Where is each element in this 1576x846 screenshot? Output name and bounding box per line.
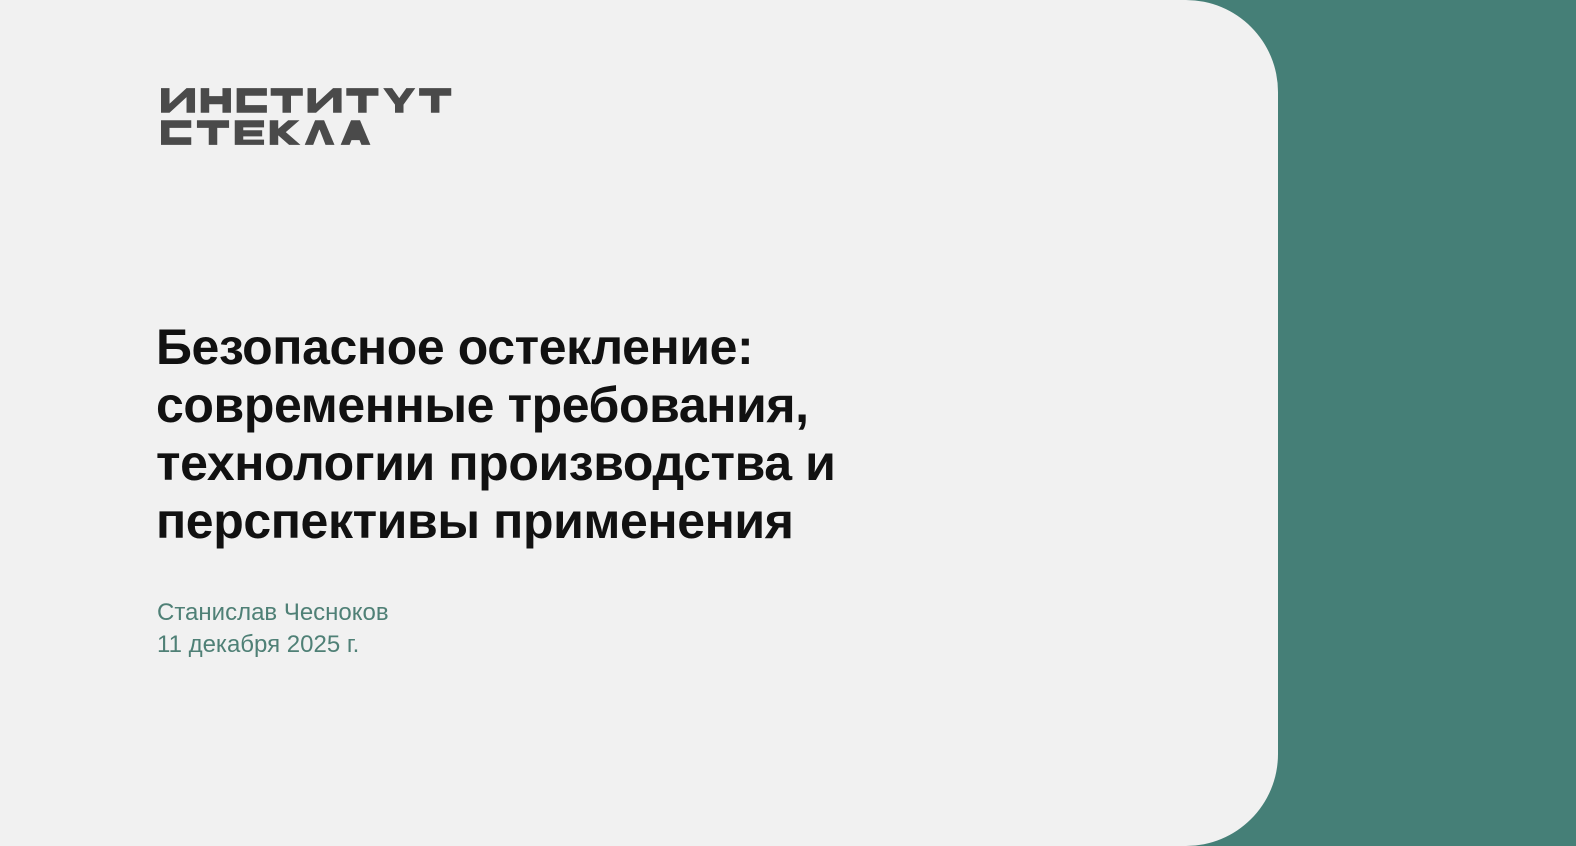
content-card: Безопасное остекление: современные требо…	[0, 0, 1278, 846]
title-line-2: современные требования,	[156, 376, 1056, 434]
byline: Станислав Чесноков 11 декабря 2025 г.	[157, 597, 389, 661]
institut-stekla-logo	[161, 86, 491, 147]
title-line-1: Безопасное остекление:	[156, 318, 1056, 376]
title-line-3: технологии производства и	[156, 434, 1056, 492]
presentation-title-slide: Безопасное остекление: современные требо…	[0, 0, 1576, 846]
byline-author: Станислав Чесноков	[157, 597, 389, 629]
title-line-4: перспективы применения	[156, 492, 1056, 550]
page-title: Безопасное остекление: современные требо…	[156, 318, 1056, 550]
byline-date: 11 декабря 2025 г.	[157, 629, 389, 661]
